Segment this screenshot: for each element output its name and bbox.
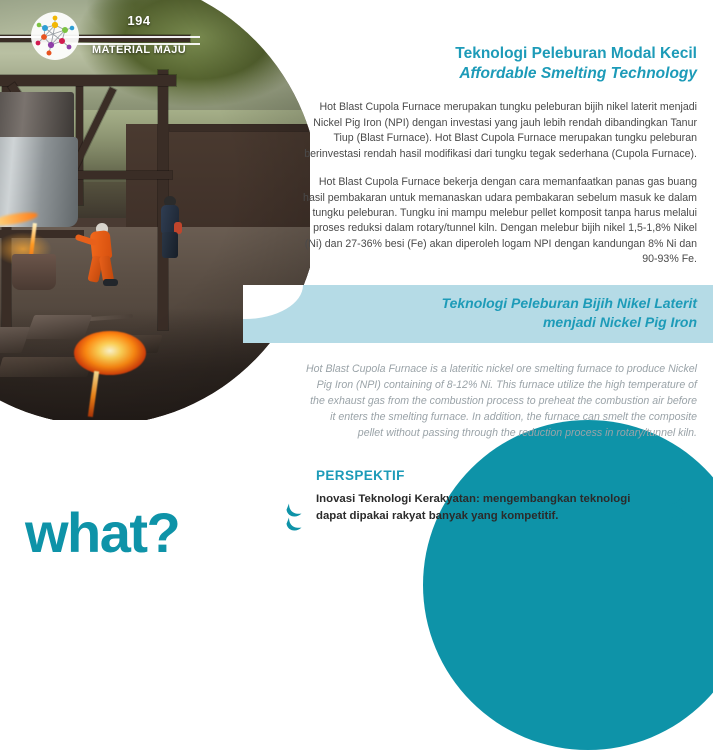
molecule-network-icon: [31, 12, 79, 60]
title-indonesian: Teknologi Peleburan Modal Kecil: [288, 44, 697, 64]
quote-open-icon: [284, 499, 314, 533]
smelting-furnace-photo: [0, 0, 310, 420]
body-paragraph-1: Hot Blast Cupola Furnace merupakan tungk…: [288, 100, 713, 162]
section-label: MATERIAL MAJU: [80, 44, 198, 56]
perspektif-quote-wrap: Inovasi Teknologi Kerakyatan: mengembang…: [316, 491, 646, 524]
page-number: 194: [80, 13, 198, 28]
photo-circular-mask: [0, 0, 310, 420]
body-paragraph-2: Hot Blast Cupola Furnace bekerja dengan …: [288, 175, 713, 268]
watermark-what: what?: [25, 505, 179, 561]
page-header-badge: 194 MATERIAL MAJU: [0, 12, 250, 60]
page-title: Teknologi Peleburan Modal Kecil Affordab…: [288, 44, 713, 84]
photo-panel: [0, 0, 310, 420]
perspektif-block: PERSPEKTIF Inovasi Teknologi Kerakyatan:…: [288, 468, 688, 524]
title-english: Affordable Smelting Technology: [288, 64, 697, 84]
photo-vignette: [0, 0, 310, 420]
quote-close-icon: [656, 489, 686, 523]
perspektif-quote-text: Inovasi Teknologi Kerakyatan: mengembang…: [316, 491, 646, 524]
header-rule-top: [0, 36, 200, 38]
perspektif-heading: PERSPEKTIF: [316, 468, 688, 483]
english-summary-paragraph: Hot Blast Cupola Furnace is a lateritic …: [288, 362, 713, 441]
